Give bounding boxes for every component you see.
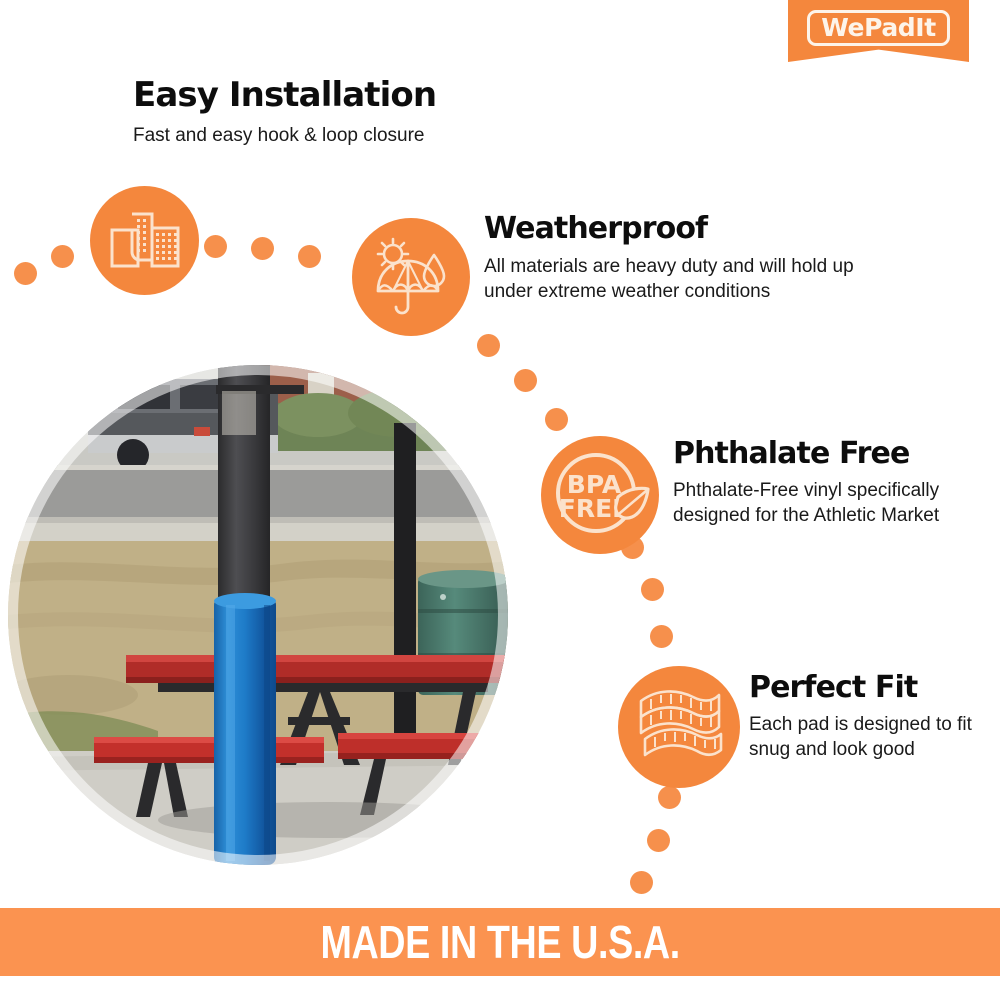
- hook-and-loop-strap-icon: [90, 186, 199, 295]
- brand-logo-part-pad: Pad: [864, 13, 915, 42]
- sun-umbrella-raindrop-icon: [352, 218, 470, 336]
- feature-title-weatherproof: Weatherproof: [484, 213, 904, 245]
- feature-description-installation: Fast and easy hook & loop closure: [133, 123, 563, 148]
- made-in-usa-banner: MADE IN THE U.S.A.: [0, 908, 1000, 976]
- feature-description-weatherproof: All materials are heavy duty and will ho…: [484, 254, 904, 305]
- path-dot: [251, 237, 274, 260]
- feature-title-phthalate: Phthalate Free: [673, 438, 973, 470]
- brand-logo-part-it: It: [915, 13, 935, 42]
- feature-title-installation: Easy Installation: [133, 78, 563, 114]
- bpa-free-leaf-icon: BPA FREE: [541, 436, 659, 554]
- feature-title-perfectfit: Perfect Fit: [749, 672, 989, 704]
- feature-block-perfectfit: Perfect Fit Each pad is designed to fit …: [749, 672, 989, 762]
- feature-block-installation: Easy Installation Fast and easy hook & l…: [133, 78, 563, 148]
- path-dot: [514, 369, 537, 392]
- infographic-canvas: WePadIt: [0, 0, 1000, 987]
- brand-logo-text: WePadIt: [821, 13, 936, 42]
- path-dot: [51, 245, 74, 268]
- path-dot: [204, 235, 227, 258]
- feature-description-perfectfit: Each pad is designed to fit snug and loo…: [749, 712, 989, 763]
- feature-block-phthalate: Phthalate Free Phthalate-Free vinyl spec…: [673, 438, 973, 528]
- path-dot: [647, 829, 670, 852]
- made-in-usa-text: MADE IN THE U.S.A.: [320, 915, 679, 969]
- feature-description-phthalate: Phthalate-Free vinyl specifically design…: [673, 478, 973, 529]
- brand-logo-part-we: We: [821, 13, 864, 42]
- brand-logo-frame: WePadIt: [807, 10, 950, 46]
- path-dot: [641, 578, 664, 601]
- path-dot: [658, 786, 681, 809]
- path-dot: [630, 871, 653, 894]
- feature-block-weatherproof: Weatherproof All materials are heavy dut…: [484, 213, 904, 304]
- product-photo-pole-pad: [8, 365, 508, 865]
- path-dot: [298, 245, 321, 268]
- path-dot: [545, 408, 568, 431]
- measuring-tape-icon: [618, 666, 740, 788]
- path-dot: [477, 334, 500, 357]
- path-dot: [14, 262, 37, 285]
- brand-logo-banner: WePadIt: [788, 0, 969, 62]
- path-dot: [650, 625, 673, 648]
